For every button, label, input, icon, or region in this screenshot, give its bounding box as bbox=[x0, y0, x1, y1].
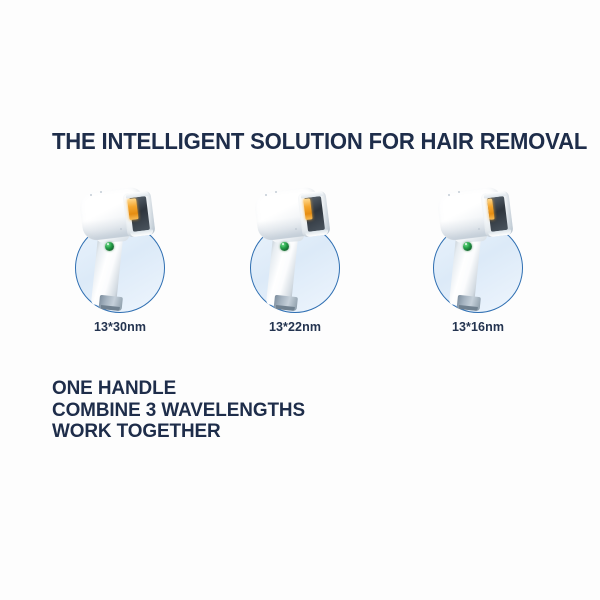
laser-handpiece-icon bbox=[431, 184, 531, 314]
handpiece-emitter-head bbox=[122, 190, 155, 237]
product-item-1: 13*30nm bbox=[35, 178, 205, 348]
tagline-line-2: COMBINE 3 WAVELENGTHS bbox=[52, 400, 305, 422]
tagline-line-1: ONE HANDLE bbox=[52, 378, 305, 400]
power-led-icon bbox=[463, 242, 472, 251]
laser-handpiece-icon bbox=[248, 184, 348, 314]
product-item-3: 13*16nm bbox=[393, 178, 563, 348]
tagline-line-3: WORK TOGETHER bbox=[52, 421, 305, 443]
spec-label: 13*16nm bbox=[393, 320, 563, 334]
handpiece-emitter-head bbox=[297, 190, 330, 237]
page-title: THE INTELLIGENT SOLUTION FOR HAIR REMOVA… bbox=[52, 128, 587, 155]
handpiece-cable-tip bbox=[99, 295, 123, 311]
product-row: 13*30nm 13*22n bbox=[0, 178, 600, 348]
spec-label: 13*22nm bbox=[210, 320, 380, 334]
power-led-icon bbox=[105, 242, 114, 251]
power-led-icon bbox=[280, 242, 289, 251]
handpiece-cable-tip bbox=[457, 295, 481, 311]
spec-label: 13*30nm bbox=[35, 320, 205, 334]
product-item-2: 13*22nm bbox=[210, 178, 380, 348]
handpiece-cable-tip bbox=[274, 295, 298, 311]
laser-handpiece-icon bbox=[73, 184, 173, 314]
handpiece-emitter-head bbox=[480, 190, 513, 237]
promo-banner: THE INTELLIGENT SOLUTION FOR HAIR REMOVA… bbox=[0, 0, 600, 600]
tagline-block: ONE HANDLE COMBINE 3 WAVELENGTHS WORK TO… bbox=[52, 378, 305, 443]
